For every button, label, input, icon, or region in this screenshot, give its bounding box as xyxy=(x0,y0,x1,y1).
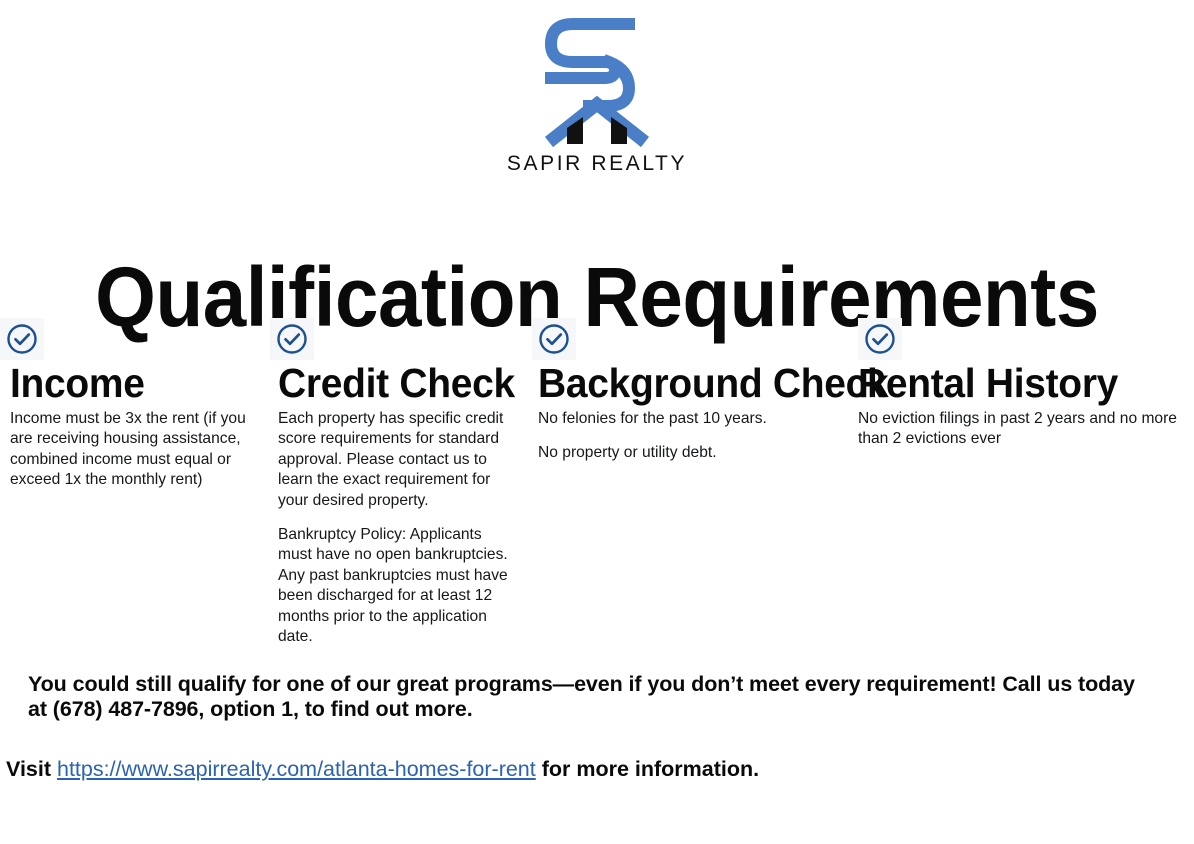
visit-line: Visit https://www.sapirrealty.com/atlant… xyxy=(6,757,759,783)
sapir-realty-s-r-house-logo xyxy=(537,18,657,150)
check-circle-icon-tile xyxy=(858,318,902,360)
requirement-column-credit-check: Credit Check Each property has specific … xyxy=(278,318,518,647)
check-circle-icon xyxy=(862,321,898,357)
check-circle-icon-tile xyxy=(532,318,576,360)
column-heading: Rental History xyxy=(858,363,1168,405)
requirement-column-income: Income Income must be 3x the rent (if yo… xyxy=(10,318,268,491)
qualify-callout: You could still qualify for one of our g… xyxy=(28,672,1148,723)
column-paragraph-debt: No property or utility debt. xyxy=(538,443,850,463)
column-paragraph: Each property has specific credit score … xyxy=(278,409,518,511)
visit-prefix: Visit xyxy=(6,757,57,781)
check-circle-icon-tile xyxy=(270,318,314,360)
check-circle-icon xyxy=(274,321,310,357)
column-paragraph-bankruptcy: Bankruptcy Policy: Applicants must have … xyxy=(278,525,518,648)
brand-logo: SAPIR REALTY xyxy=(0,18,1194,176)
column-paragraph: No felonies for the past 10 years. xyxy=(538,409,850,429)
check-circle-icon xyxy=(4,321,40,357)
column-heading: Credit Check xyxy=(278,363,506,405)
check-circle-icon-tile xyxy=(0,318,44,360)
website-link[interactable]: https://www.sapirrealty.com/atlanta-home… xyxy=(57,757,536,781)
brand-wordmark: SAPIR REALTY xyxy=(507,152,687,176)
visit-suffix: for more information. xyxy=(536,757,759,781)
check-circle-icon xyxy=(536,321,572,357)
column-paragraph: No eviction filings in past 2 years and … xyxy=(858,409,1184,450)
column-heading: Income xyxy=(10,363,255,405)
column-paragraph: Income must be 3x the rent (if you are r… xyxy=(10,409,268,491)
requirement-column-rental-history: Rental History No eviction filings in pa… xyxy=(858,318,1184,450)
requirement-column-background-check: Background Check No felonies for the pas… xyxy=(538,318,850,464)
column-heading: Background Check xyxy=(538,363,834,405)
